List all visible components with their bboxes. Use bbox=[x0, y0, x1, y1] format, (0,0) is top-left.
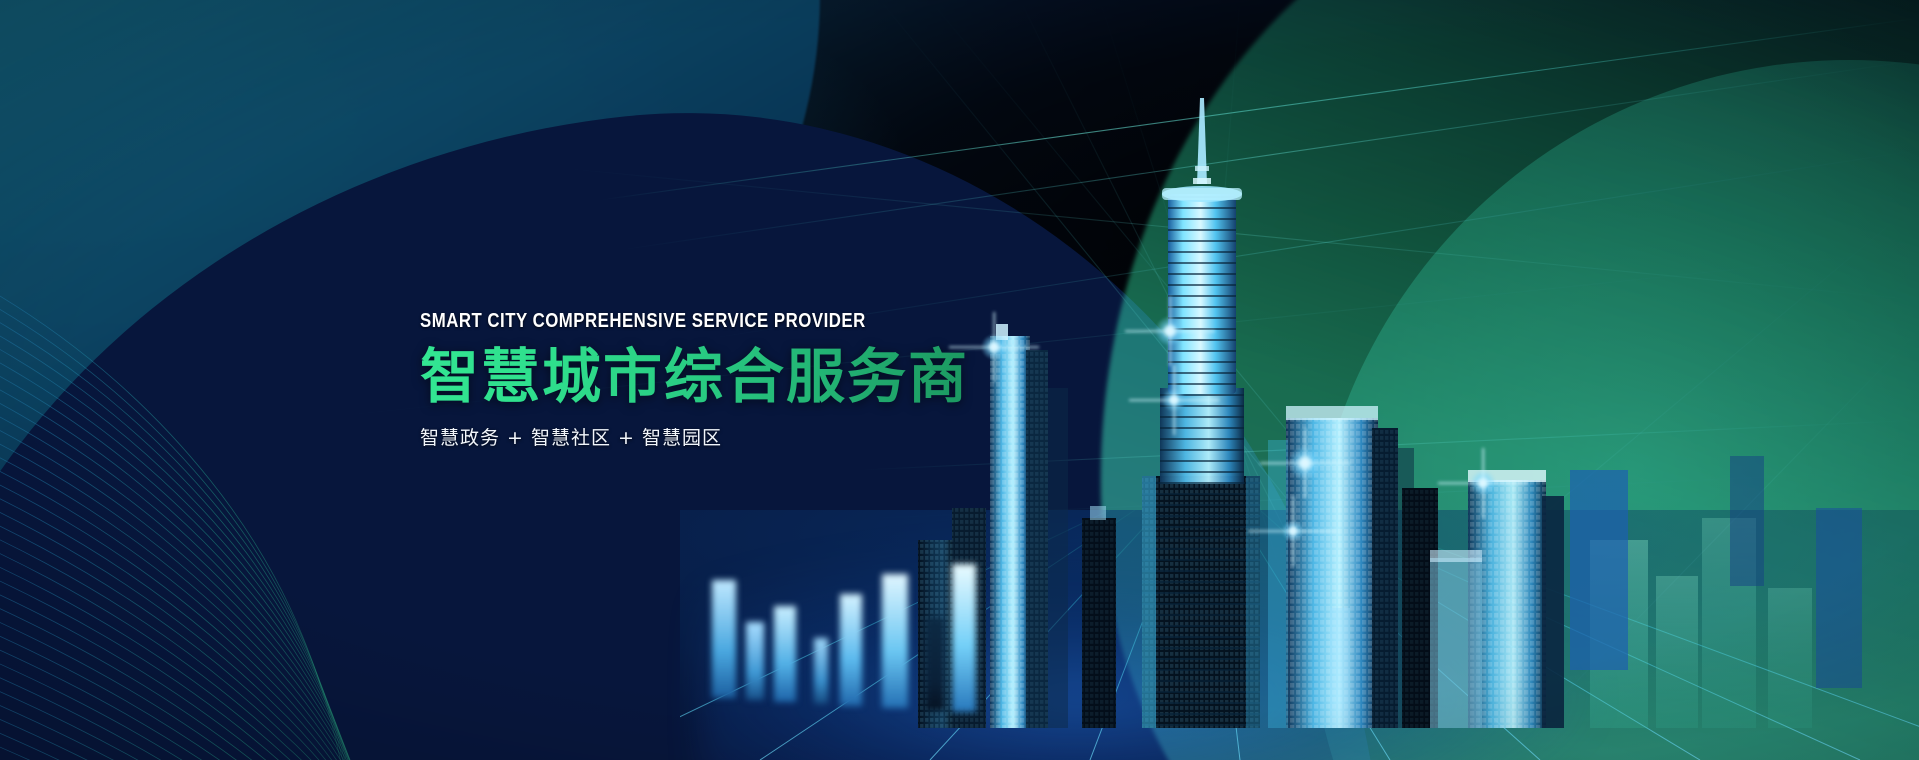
tagline: SMART CITY COMPREHENSIVE SERVICE PROVIDE… bbox=[420, 310, 958, 333]
foreground-bar bbox=[882, 574, 908, 708]
hero-text-block: SMART CITY COMPREHENSIVE SERVICE PROVIDE… bbox=[420, 310, 1060, 450]
foreground-bars bbox=[690, 470, 1390, 760]
foreground-bar bbox=[840, 594, 862, 706]
foreground-bar bbox=[712, 580, 736, 698]
subtitle: 智慧政务 + 智慧社区 + 智慧园区 bbox=[420, 423, 1060, 450]
foreground-bar bbox=[926, 618, 944, 710]
page-title: 智慧城市综合服务商 bbox=[420, 345, 1060, 409]
hero-banner: SMART CITY COMPREHENSIVE SERVICE PROVIDE… bbox=[0, 0, 1919, 760]
foreground-bar bbox=[814, 638, 828, 704]
foreground-bar bbox=[746, 622, 764, 700]
foreground-bar bbox=[952, 564, 976, 712]
foreground-bar bbox=[774, 606, 796, 702]
